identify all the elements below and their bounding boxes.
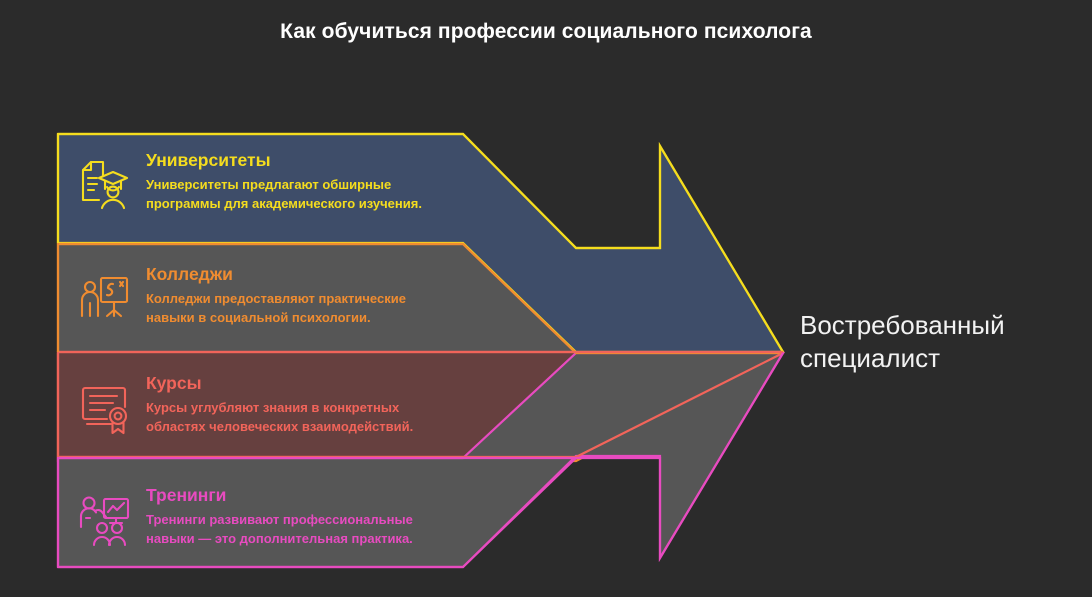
- step-text-colleges: Колледжи Колледжи предоставляют практиче…: [140, 257, 446, 327]
- step-text-courses: Курсы Курсы углубляют знания в конкретны…: [140, 366, 446, 436]
- step-description: Тренинги развивают профессиональные навы…: [146, 511, 446, 548]
- step-description: Колледжи предоставляют практические навы…: [146, 290, 446, 327]
- step-text-universities: Университеты Университеты предлагают обш…: [140, 143, 446, 213]
- step-text-trainings: Тренинги Тренинги развивают профессионал…: [140, 478, 446, 548]
- step-heading: Колледжи: [146, 264, 446, 284]
- outcome-label: Востребованный специалист: [800, 309, 1075, 376]
- step-heading: Тренинги: [146, 485, 446, 505]
- certificate-icon: [72, 374, 140, 442]
- document-graduate-icon: [72, 151, 140, 219]
- step-courses[interactable]: Курсы Курсы углубляют знания в конкретны…: [58, 366, 458, 442]
- step-description: Университеты предлагают обширные програм…: [146, 176, 446, 213]
- presenter-audience-icon: [72, 486, 140, 554]
- step-universities[interactable]: Университеты Университеты предлагают обш…: [58, 143, 458, 219]
- step-trainings[interactable]: Тренинги Тренинги развивают профессионал…: [58, 478, 458, 554]
- teacher-whiteboard-icon: [72, 265, 140, 333]
- infographic-canvas: Как обучиться профессии социального псих…: [0, 0, 1092, 597]
- step-heading: Курсы: [146, 373, 446, 393]
- step-heading: Университеты: [146, 150, 446, 170]
- step-description: Курсы углубляют знания в конкретных обла…: [146, 399, 446, 436]
- step-colleges[interactable]: Колледжи Колледжи предоставляют практиче…: [58, 257, 458, 333]
